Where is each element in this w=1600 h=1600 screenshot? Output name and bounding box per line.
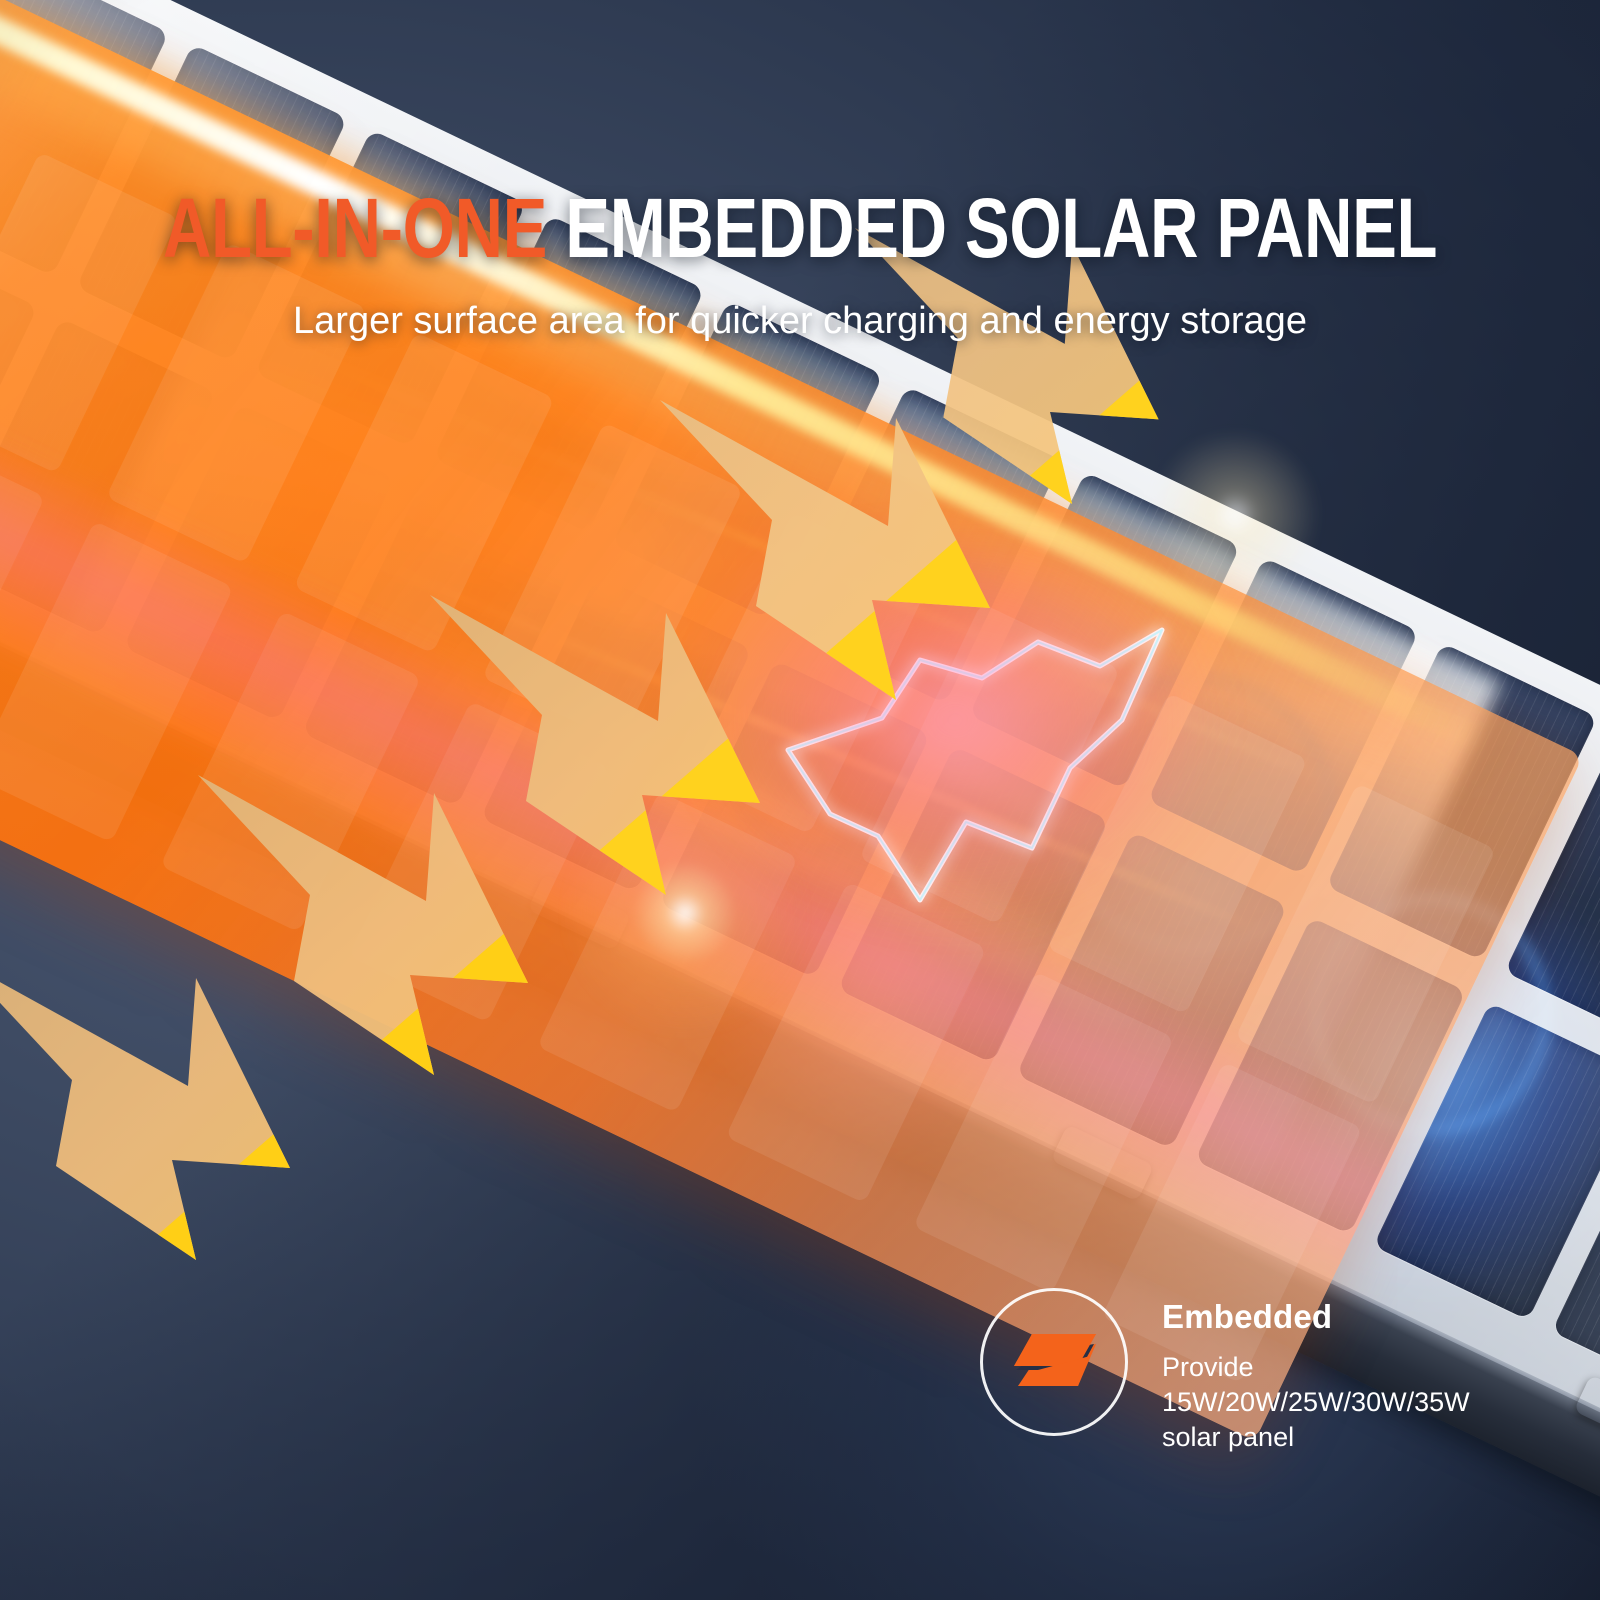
badge-description: Provide 15W/20W/25W/30W/35W solar panel: [1162, 1350, 1470, 1455]
page-subtitle: Larger surface area for quicker charging…: [0, 300, 1600, 343]
stacked-layers-icon: [1008, 1326, 1100, 1398]
headline-accent: ALL-IN-ONE: [163, 181, 547, 275]
badge-title: Embedded: [1162, 1298, 1470, 1336]
product-marketing-graphic: ALL-IN-ONE EMBEDDED SOLAR PANEL Larger s…: [0, 0, 1600, 1600]
feature-badge: Embedded Provide 15W/20W/25W/30W/35W sol…: [980, 1288, 1470, 1455]
badge-icon-circle: [980, 1288, 1128, 1436]
page-title: ALL-IN-ONE EMBEDDED SOLAR PANEL: [160, 186, 1440, 270]
headline-rest: EMBEDDED SOLAR PANEL: [565, 181, 1437, 275]
headline-space: [547, 181, 565, 275]
